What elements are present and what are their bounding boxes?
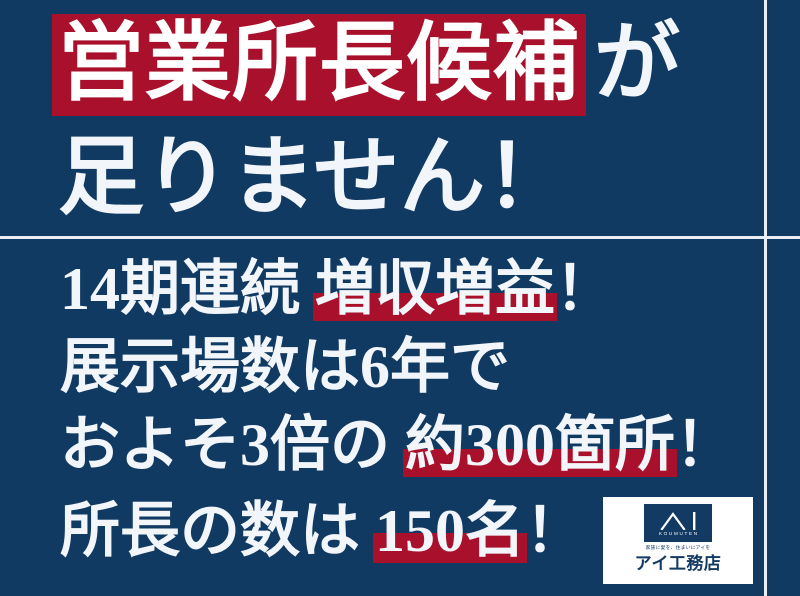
body-line-3-post: ！ bbox=[675, 412, 735, 478]
body-line-2: 展示場数は6年で bbox=[60, 337, 510, 397]
body-line-1-highlight: 増収増益 bbox=[315, 259, 555, 319]
headline-line-2: 足りません！ bbox=[58, 134, 571, 220]
vertical-divider bbox=[764, 0, 767, 596]
logo-company-name: アイ工務店 bbox=[635, 555, 722, 572]
body-line-1: 14期連続 増収増益！ bbox=[60, 259, 615, 319]
body-line-4-highlight: 150名 bbox=[375, 501, 525, 561]
logo-tagline: 家族に愛を、住まいにアイを bbox=[646, 547, 711, 552]
headline-line-1: 営業所長候補が bbox=[52, 14, 680, 116]
poster-root: 営業所長候補が 足りません！ 14期連続 増収増益！ 展示場数は6年で およそ3… bbox=[0, 0, 800, 596]
body-line-1-post: ！ bbox=[555, 256, 615, 322]
company-logo-card: KOUMUTEN 家族に愛を、住まいにアイを アイ工務店 bbox=[603, 497, 753, 584]
body-line-1-pre: 14期連続 bbox=[60, 256, 315, 322]
logo-mark-subtitle: KOUMUTEN bbox=[657, 532, 699, 537]
logo-mark: KOUMUTEN bbox=[644, 504, 712, 542]
vertical-bar-i-icon bbox=[693, 512, 696, 530]
headline-tail: が bbox=[586, 20, 680, 106]
body-line-3-pre: およそ3倍の bbox=[60, 412, 405, 478]
logo-glyphs bbox=[660, 510, 696, 530]
body-line-4: 所長の数は 150名！ bbox=[60, 501, 585, 561]
body-line-3: およそ3倍の 約300箇所！ bbox=[60, 415, 735, 475]
roof-a-icon bbox=[660, 512, 686, 530]
headline-highlight: 営業所長候補 bbox=[52, 14, 586, 116]
body-line-3-highlight: 約300箇所 bbox=[405, 415, 675, 475]
body-line-4-post: ！ bbox=[525, 498, 585, 564]
headline-block: 営業所長候補が 足りません！ bbox=[0, 0, 764, 236]
body-line-4-pre: 所長の数は bbox=[60, 498, 375, 564]
